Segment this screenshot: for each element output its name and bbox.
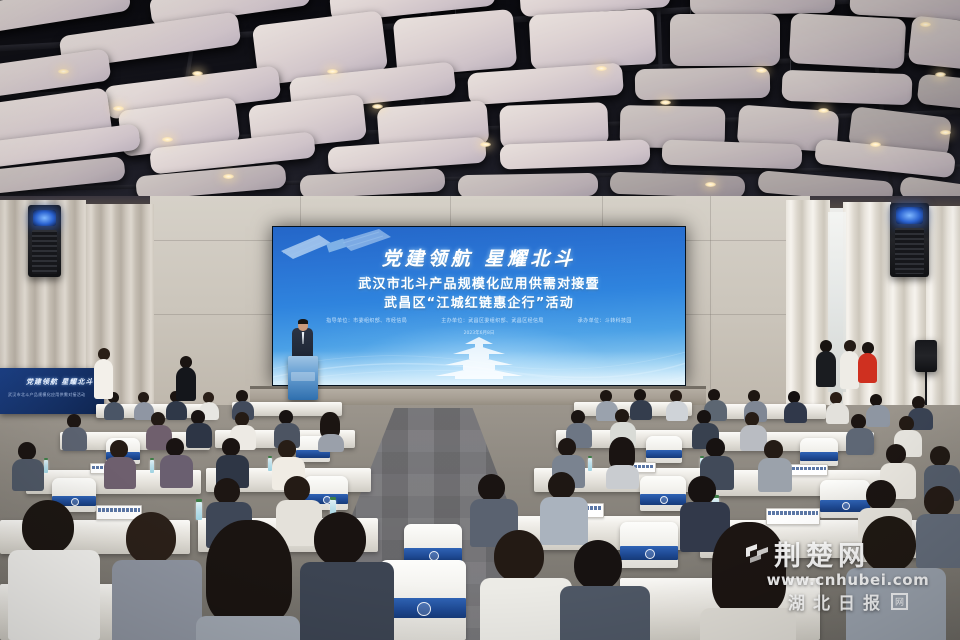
ceiling-downlight [192, 71, 203, 76]
banquet-chair [620, 522, 678, 568]
led-screen: 党建领航 星耀北斗 武汉市北斗产品规模化应用供需对接暨 武昌区“江城红链惠企行”… [272, 226, 686, 386]
water-bottle [44, 460, 48, 473]
screen-date: 2023年6月8日 [273, 330, 685, 336]
chair-sash-buckle [842, 502, 850, 510]
led-screen-content: 党建领航 星耀北斗 武汉市北斗产品规模化应用供需对接暨 武昌区“江城红链惠企行”… [273, 227, 685, 385]
event-standee-banner: 党建领航 星耀北斗 武汉市北斗产品规模化应用供需对接活动 [0, 368, 104, 414]
bottle-cap [44, 458, 48, 460]
ceiling-downlight [58, 69, 69, 74]
podium [288, 356, 318, 400]
acoustic-ceiling-panel [610, 172, 746, 199]
ceiling-downlight [223, 174, 234, 179]
acoustic-ceiling-panel [781, 70, 912, 106]
ceiling-downlight [870, 142, 881, 147]
organizer-guidance: 指导单位：市委组织部、市经信局 [326, 317, 407, 324]
ceiling-downlight [935, 72, 946, 77]
bottle-cap [588, 456, 592, 458]
acoustic-ceiling-panel [635, 67, 771, 100]
ceiling [0, 0, 960, 215]
acoustic-ceiling-panel [327, 137, 486, 174]
podium-nameplate [291, 372, 315, 381]
ceiling-downlight [162, 137, 173, 142]
acoustic-ceiling-panel [670, 14, 780, 66]
bottle-cap [330, 497, 336, 500]
table-name-placard [766, 508, 820, 525]
yellow-crane-tower-icon [419, 337, 539, 379]
acoustic-ceiling-panel [917, 74, 960, 113]
pa-speaker-right-grill [895, 228, 924, 274]
curtain-right-d [926, 206, 960, 406]
ceiling-downlight [756, 68, 767, 73]
pa-speaker-left-grill [32, 230, 57, 274]
acoustic-ceiling-panel [500, 139, 651, 169]
ceiling-downlight [113, 106, 124, 111]
standee-subline: 武汉市北斗产品规模化应用供需对接活动 [8, 392, 98, 398]
ceiling-downlight [480, 142, 491, 147]
table-name-placard [790, 464, 828, 476]
screen-subtitle-line1: 武汉市北斗产品规模化应用供需对接暨 [273, 273, 685, 292]
screen-organizer-line: 指导单位：市委组织部、市经信局 主办单位：武昌区委组织部、武昌区经信局 承办单位… [273, 317, 685, 324]
ceiling-downlight [372, 104, 383, 109]
chair-sash-buckle [417, 602, 431, 616]
organizer-host: 主办单位：武昌区委组织部、武昌区经信局 [441, 317, 544, 324]
monitor-speaker-right [915, 340, 937, 372]
ceiling-downlight [940, 130, 951, 135]
ceiling-downlight [818, 108, 829, 113]
ceiling-downlight [920, 22, 931, 27]
acoustic-ceiling-panel [690, 0, 836, 15]
acoustic-ceiling-panel [789, 13, 906, 69]
organizer-operator: 承办单位：斗转科技园 [578, 317, 632, 324]
chair-sash-buckle [645, 549, 655, 559]
standee-headline: 党建领航 星耀北斗 [26, 377, 93, 387]
ceiling-downlight [327, 69, 338, 74]
bottle-cap [268, 456, 272, 458]
ceiling-downlight [705, 182, 716, 187]
water-bottle [150, 460, 154, 473]
chair-sash-buckle [660, 496, 668, 504]
bottle-cap [150, 458, 154, 460]
water-bottle [588, 458, 592, 471]
bottle-cap [196, 499, 202, 502]
chair-sash-buckle [71, 498, 79, 506]
stage-light-left [33, 210, 56, 226]
acoustic-ceiling-panel [662, 140, 803, 170]
ceiling-downlight [596, 66, 607, 71]
chair-sash [646, 450, 682, 458]
ceiling-downlight [660, 100, 671, 105]
presenter-hair [298, 319, 308, 324]
acoustic-ceiling-panel [529, 9, 657, 70]
screen-subtitle-line2: 武昌区“江城红链惠企行”活动 [273, 292, 685, 311]
chair-sash [800, 452, 838, 461]
acoustic-ceiling-panel [458, 173, 598, 198]
acoustic-ceiling-panel [908, 15, 960, 72]
screen-title: 党建领航 星耀北斗 [273, 244, 685, 271]
stage-light-right [896, 207, 923, 224]
conference-hall-photo: 党建领航 星耀北斗 武汉市北斗产品规模化应用供需对接暨 武昌区“江城红链惠企行”… [0, 0, 960, 640]
water-bottle [196, 502, 202, 520]
acoustic-ceiling-panel [299, 168, 445, 199]
